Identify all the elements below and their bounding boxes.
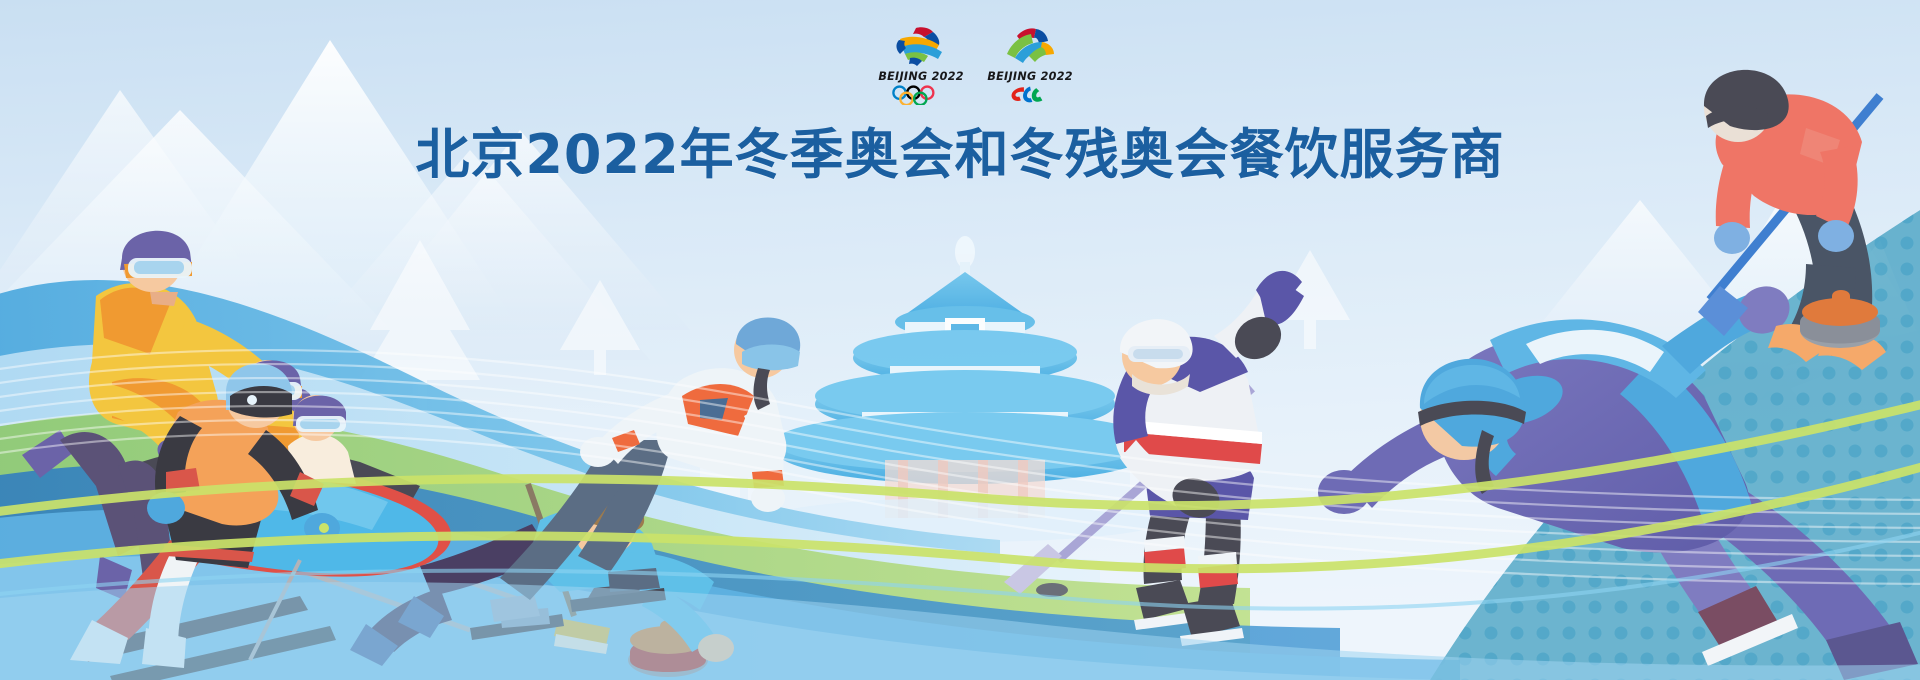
hockey-puck bbox=[1036, 583, 1068, 597]
olympic-rings-icon bbox=[888, 85, 954, 105]
skis bbox=[80, 596, 336, 680]
green-accent-ribbons bbox=[0, 400, 1920, 569]
olympic-wordmark: BEIJING 2022 bbox=[879, 69, 964, 83]
curling-broom-head bbox=[554, 618, 610, 646]
curling-stone-left bbox=[628, 620, 708, 677]
paralympic-emblem-icon bbox=[995, 24, 1067, 68]
paralympic-agitos-icon bbox=[1007, 85, 1053, 105]
hockey-skates bbox=[1134, 580, 1244, 646]
thin-ribbon-lines bbox=[0, 350, 1920, 584]
bobsled bbox=[111, 446, 451, 576]
hockey-stick bbox=[1004, 388, 1252, 594]
beijing-2022-olympic-logo[interactable]: BEIJING 2022 bbox=[876, 24, 967, 105]
athlete-bobsled-pusher bbox=[22, 231, 315, 620]
beijing-2022-paralympic-logo[interactable]: BEIJING 2022 bbox=[985, 24, 1076, 105]
logo-group: BEIJING 2022 BEIJING 20 bbox=[876, 24, 1076, 110]
athlete-bobsled-crew-1 bbox=[236, 360, 318, 462]
page-title: 北京2022年冬季奥会和冬残奥会餐饮服务商 bbox=[0, 124, 1920, 186]
pine-tree-silhouettes bbox=[360, 240, 1350, 410]
speed-skate-right bbox=[1698, 586, 1798, 666]
speed-skates-left bbox=[470, 568, 666, 640]
city-skyline bbox=[700, 430, 1196, 500]
bobsled-rails bbox=[100, 470, 520, 630]
olympic-emblem-icon bbox=[886, 24, 958, 68]
curling-broom-handle bbox=[528, 484, 574, 616]
paralympic-wordmark: BEIJING 2022 bbox=[988, 69, 1073, 83]
athlete-bobsled-crew-2 bbox=[288, 395, 356, 484]
curling-stone-right bbox=[1800, 290, 1880, 348]
ski-pole bbox=[250, 560, 300, 660]
beijing-2022-banner: BEIJING 2022 BEIJING 20 bbox=[0, 0, 1920, 680]
